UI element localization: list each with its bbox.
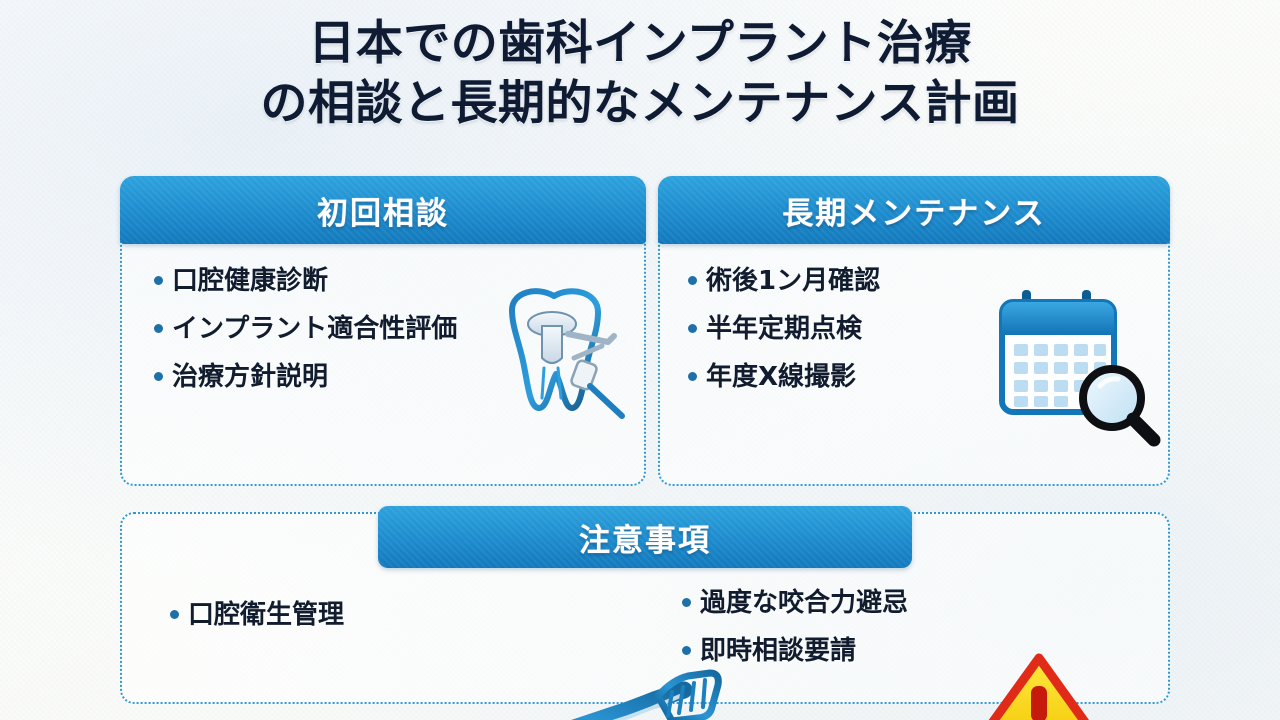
list-item: 即時相談要請 [682,638,908,664]
card-initial-consultation: 初回相談 口腔健康診断 インプラント適合性評価 治療方針説明 [120,176,646,486]
list-item: インプラント適合性評価 [154,316,457,342]
bullet-label: 即時相談要請 [700,638,856,664]
bullet-label: 術後1ン月確認 [706,268,880,294]
bullet-dot-icon [682,598,691,607]
list-item: 半年定期点検 [688,316,880,342]
card-header-long-term-maintenance: 長期メンテナンス [658,176,1170,244]
card-header-label: 注意事項 [579,515,711,560]
calendar-magnifier-icon [990,286,1162,446]
card-body-initial-consultation: 口腔健康診断 インプラント適合性評価 治療方針説明 [122,246,644,484]
card-body-long-term-maintenance: 術後1ン月確認 半年定期点検 年度X線撮影 [660,246,1168,484]
card-header-initial-consultation: 初回相談 [120,176,646,244]
list-item: 口腔衛生管理 [170,602,344,628]
bullet-dot-icon [154,324,163,333]
card-header-label: 初回相談 [317,188,449,233]
bullet-dot-icon [688,324,697,333]
bullet-dot-icon [154,372,163,381]
bullet-label: 治療方針説明 [172,364,328,390]
title-line-1: 日本での歯科インプラント治療 [0,14,1280,74]
card-precautions: 注意事項 口腔衛生管理 過度な咬合力避忌 即時相談要請 [120,512,1170,704]
list-item: 口腔健康診断 [154,268,457,294]
card-header-precautions: 注意事項 [378,506,912,568]
bullet-list-long-term-maintenance: 術後1ン月確認 半年定期点検 年度X線撮影 [688,268,880,412]
bullet-list-precautions-left: 口腔衛生管理 [170,602,344,650]
bullet-dot-icon [688,276,697,285]
list-item: 年度X線撮影 [688,364,880,390]
bullet-dot-icon [170,610,179,619]
slide-title: 日本での歯科インプラント治療 の相談と長期的なメンテナンス計画 [0,14,1280,134]
tooth-implant-icon [482,276,632,426]
bullet-label: 過度な咬合力避忌 [700,590,908,616]
bullet-dot-icon [688,372,697,381]
bullet-label: 半年定期点検 [706,316,862,342]
list-item: 術後1ン月確認 [688,268,880,294]
list-item: 過度な咬合力避忌 [682,590,908,616]
card-body-precautions: 口腔衛生管理 過度な咬合力避忌 即時相談要請 [122,574,1168,702]
bullet-dot-icon [154,276,163,285]
bullet-label: インプラント適合性評価 [172,316,457,342]
card-header-label: 長期メンテナンス [782,188,1045,233]
bullet-label: 口腔健康診断 [172,268,328,294]
warning-triangle-icon [967,652,1112,720]
title-line-2: の相談と長期的なメンテナンス計画 [0,74,1280,134]
card-long-term-maintenance: 長期メンテナンス 術後1ン月確認 半年定期点検 年度X線撮影 [658,176,1170,486]
infographic-slide: 日本での歯科インプラント治療 の相談と長期的なメンテナンス計画 初回相談 口腔健… [0,0,1280,720]
toothbrush-icon [532,670,747,720]
bullet-list-initial-consultation: 口腔健康診断 インプラント適合性評価 治療方針説明 [154,268,457,412]
bullet-label: 口腔衛生管理 [188,602,344,628]
list-item: 治療方針説明 [154,364,457,390]
bullet-label: 年度X線撮影 [706,364,856,390]
bullet-dot-icon [682,646,691,655]
